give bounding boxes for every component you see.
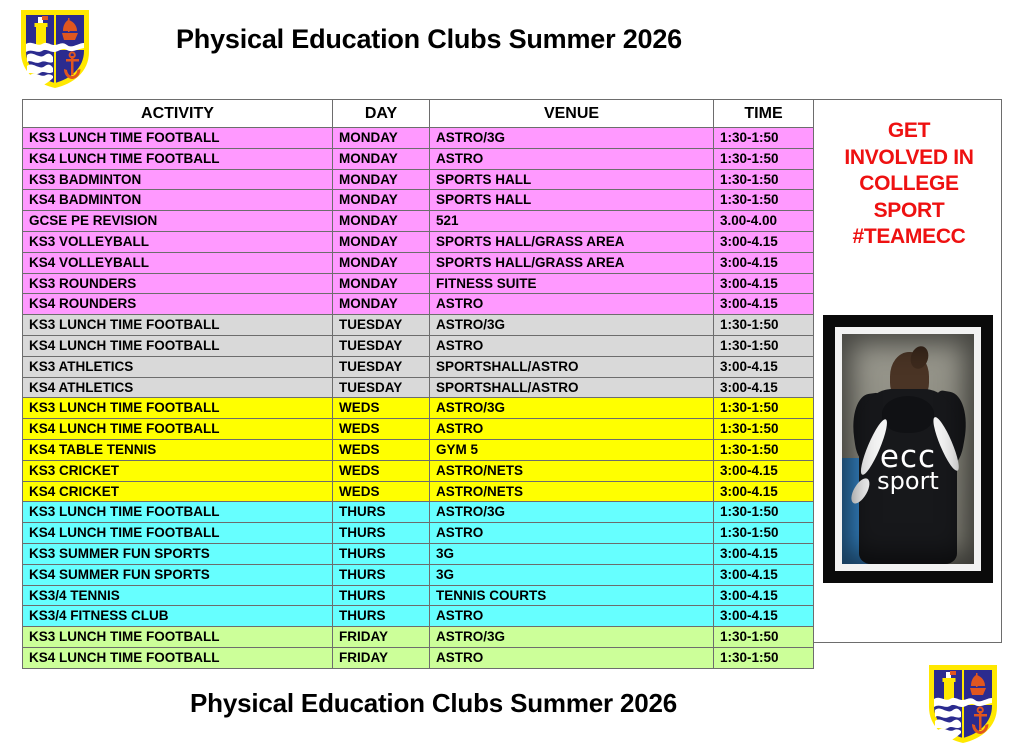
- table-row: KS4 LUNCH TIME FOOTBALLFRIDAYASTRO1:30-1…: [23, 647, 814, 668]
- cell-time: 3:00-4.15: [714, 356, 814, 377]
- cell-venue: ASTRO/NETS: [430, 481, 714, 502]
- cell-activity: KS3 LUNCH TIME FOOTBALL: [23, 128, 333, 149]
- photo-hood: [882, 396, 935, 433]
- cell-time: 1:30-1:50: [714, 439, 814, 460]
- cell-activity: KS4 ROUNDERS: [23, 294, 333, 315]
- cell-venue: ASTRO: [430, 523, 714, 544]
- cell-time: 1:30-1:50: [714, 335, 814, 356]
- cell-day: THURS: [333, 502, 430, 523]
- cell-activity: KS4 SUMMER FUN SPORTS: [23, 564, 333, 585]
- table-row: KS4 LUNCH TIME FOOTBALLTUESDAYASTRO1:30-…: [23, 335, 814, 356]
- cell-day: THURS: [333, 523, 430, 544]
- cell-venue: SPORTS HALL: [430, 190, 714, 211]
- cell-day: THURS: [333, 585, 430, 606]
- cell-venue: ASTRO: [430, 148, 714, 169]
- table-row: KS3/4 FITNESS CLUBTHURSASTRO3:00-4.15: [23, 606, 814, 627]
- cell-venue: ASTRO/3G: [430, 627, 714, 648]
- cell-time: 1:30-1:50: [714, 523, 814, 544]
- cell-venue: SPORTS HALL: [430, 169, 714, 190]
- table-row: KS4 SUMMER FUN SPORTSTHURS3G3:00-4.15: [23, 564, 814, 585]
- cell-venue: ASTRO: [430, 419, 714, 440]
- cell-time: 3:00-4.15: [714, 273, 814, 294]
- table-row: KS4 LUNCH TIME FOOTBALLTHURSASTRO1:30-1:…: [23, 523, 814, 544]
- cell-day: TUESDAY: [333, 356, 430, 377]
- cell-day: MONDAY: [333, 273, 430, 294]
- cell-time: 1:30-1:50: [714, 502, 814, 523]
- cell-day: WEDS: [333, 398, 430, 419]
- cell-day: MONDAY: [333, 128, 430, 149]
- ecc-sport-photo: ecc sport: [823, 315, 993, 583]
- cell-day: MONDAY: [333, 169, 430, 190]
- cell-activity: KS3 LUNCH TIME FOOTBALL: [23, 398, 333, 419]
- page-title-top: Physical Education Clubs Summer 2026: [176, 24, 682, 55]
- table-row: KS3 LUNCH TIME FOOTBALLTUESDAYASTRO/3G1:…: [23, 315, 814, 336]
- table-row: KS4 CRICKETWEDSASTRO/NETS3:00-4.15: [23, 481, 814, 502]
- cell-time: 3:00-4.15: [714, 294, 814, 315]
- cell-venue: ASTRO/3G: [430, 128, 714, 149]
- column-header-activity: ACTIVITY: [23, 100, 333, 128]
- cell-activity: KS3 CRICKET: [23, 460, 333, 481]
- cell-day: FRIDAY: [333, 647, 430, 668]
- cell-day: TUESDAY: [333, 335, 430, 356]
- table-row: KS3 ROUNDERSMONDAYFITNESS SUITE3:00-4.15: [23, 273, 814, 294]
- cell-activity: KS4 TABLE TENNIS: [23, 439, 333, 460]
- photo-image: ecc sport: [842, 334, 974, 564]
- cell-activity: KS4 ATHLETICS: [23, 377, 333, 398]
- cell-venue: ASTRO/3G: [430, 398, 714, 419]
- cell-activity: KS4 LUNCH TIME FOOTBALL: [23, 523, 333, 544]
- cell-time: 1:30-1:50: [714, 169, 814, 190]
- clubs-timetable: ACTIVITY DAY VENUE TIME KS3 LUNCH TIME F…: [22, 99, 814, 669]
- table-row: KS3 LUNCH TIME FOOTBALLMONDAYASTRO/3G1:3…: [23, 128, 814, 149]
- cell-activity: KS3 LUNCH TIME FOOTBALL: [23, 627, 333, 648]
- table-row: KS3 ATHLETICSTUESDAYSPORTSHALL/ASTRO3:00…: [23, 356, 814, 377]
- column-header-venue: VENUE: [430, 100, 714, 128]
- cell-time: 3:00-4.15: [714, 252, 814, 273]
- cell-venue: ASTRO/3G: [430, 315, 714, 336]
- cell-time: 1:30-1:50: [714, 398, 814, 419]
- cell-venue: SPORTS HALL/GRASS AREA: [430, 231, 714, 252]
- cell-day: THURS: [333, 543, 430, 564]
- table-row: KS4 ATHLETICSTUESDAYSPORTSHALL/ASTRO3:00…: [23, 377, 814, 398]
- photo-mat: ecc sport: [835, 327, 981, 571]
- cell-venue: ASTRO: [430, 294, 714, 315]
- promo-line-2: INVOLVED IN: [820, 145, 998, 172]
- cell-day: THURS: [333, 564, 430, 585]
- cell-venue: SPORTSHALL/ASTRO: [430, 377, 714, 398]
- table-row: KS3 SUMMER FUN SPORTSTHURS3G3:00-4.15: [23, 543, 814, 564]
- column-header-day: DAY: [333, 100, 430, 128]
- cell-time: 1:30-1:50: [714, 315, 814, 336]
- cell-time: 3.00-4.00: [714, 211, 814, 232]
- cell-venue: 521: [430, 211, 714, 232]
- cell-day: TUESDAY: [333, 377, 430, 398]
- table-row: KS4 LUNCH TIME FOOTBALLWEDSASTRO1:30-1:5…: [23, 419, 814, 440]
- cell-venue: ASTRO/NETS: [430, 460, 714, 481]
- cell-activity: GCSE PE REVISION: [23, 211, 333, 232]
- cell-day: WEDS: [333, 460, 430, 481]
- photo-hoodie-logo: ecc sport: [842, 442, 974, 493]
- cell-activity: KS3 LUNCH TIME FOOTBALL: [23, 315, 333, 336]
- cell-activity: KS4 LUNCH TIME FOOTBALL: [23, 647, 333, 668]
- cell-venue: 3G: [430, 543, 714, 564]
- table-row: KS3 BADMINTONMONDAYSPORTS HALL1:30-1:50: [23, 169, 814, 190]
- cell-activity: KS4 LUNCH TIME FOOTBALL: [23, 419, 333, 440]
- table-header-row: ACTIVITY DAY VENUE TIME: [23, 100, 814, 128]
- cell-day: MONDAY: [333, 211, 430, 232]
- cell-time: 3:00-4.15: [714, 231, 814, 252]
- school-crest-top: [17, 6, 93, 90]
- cell-time: 1:30-1:50: [714, 148, 814, 169]
- cell-venue: SPORTS HALL/GRASS AREA: [430, 252, 714, 273]
- table-row: KS3 CRICKETWEDSASTRO/NETS3:00-4.15: [23, 460, 814, 481]
- page-title-bottom: Physical Education Clubs Summer 2026: [190, 688, 677, 719]
- cell-day: WEDS: [333, 439, 430, 460]
- cell-day: TUESDAY: [333, 315, 430, 336]
- cell-day: MONDAY: [333, 148, 430, 169]
- cell-venue: TENNIS COURTS: [430, 585, 714, 606]
- cell-time: 1:30-1:50: [714, 647, 814, 668]
- cell-activity: KS4 LUNCH TIME FOOTBALL: [23, 148, 333, 169]
- table-row: KS3 VOLLEYBALLMONDAYSPORTS HALL/GRASS AR…: [23, 231, 814, 252]
- cell-day: MONDAY: [333, 190, 430, 211]
- cell-time: 3:00-4.15: [714, 460, 814, 481]
- table-row: KS4 ROUNDERSMONDAYASTRO3:00-4.15: [23, 294, 814, 315]
- table-row: KS3/4 TENNISTHURSTENNIS COURTS3:00-4.15: [23, 585, 814, 606]
- cell-activity: KS3 LUNCH TIME FOOTBALL: [23, 502, 333, 523]
- cell-day: MONDAY: [333, 294, 430, 315]
- cell-activity: KS4 CRICKET: [23, 481, 333, 502]
- table-row: KS3 LUNCH TIME FOOTBALLFRIDAYASTRO/3G1:3…: [23, 627, 814, 648]
- cell-time: 3:00-4.15: [714, 606, 814, 627]
- cell-time: 1:30-1:50: [714, 627, 814, 648]
- cell-time: 1:30-1:50: [714, 128, 814, 149]
- cell-venue: ASTRO: [430, 335, 714, 356]
- cell-venue: ASTRO/3G: [430, 502, 714, 523]
- cell-day: THURS: [333, 606, 430, 627]
- table-row: KS4 LUNCH TIME FOOTBALLMONDAYASTRO1:30-1…: [23, 148, 814, 169]
- hoodie-logo-line2: sport: [842, 469, 974, 493]
- cell-activity: KS3 SUMMER FUN SPORTS: [23, 543, 333, 564]
- cell-activity: KS3 ROUNDERS: [23, 273, 333, 294]
- cell-venue: ASTRO: [430, 606, 714, 627]
- cell-time: 3:00-4.15: [714, 585, 814, 606]
- cell-time: 3:00-4.15: [714, 564, 814, 585]
- promo-line-5: #TEAMECC: [820, 224, 998, 251]
- cell-activity: KS4 LUNCH TIME FOOTBALL: [23, 335, 333, 356]
- cell-day: WEDS: [333, 419, 430, 440]
- cell-time: 1:30-1:50: [714, 419, 814, 440]
- cell-activity: KS3/4 FITNESS CLUB: [23, 606, 333, 627]
- cell-venue: FITNESS SUITE: [430, 273, 714, 294]
- promo-line-4: SPORT: [820, 198, 998, 225]
- cell-time: 1:30-1:50: [714, 190, 814, 211]
- cell-day: WEDS: [333, 481, 430, 502]
- cell-day: FRIDAY: [333, 627, 430, 648]
- promo-line-3: COLLEGE: [820, 171, 998, 198]
- table-row: KS4 VOLLEYBALLMONDAYSPORTS HALL/GRASS AR…: [23, 252, 814, 273]
- table-row: KS4 BADMINTONMONDAYSPORTS HALL1:30-1:50: [23, 190, 814, 211]
- cell-venue: 3G: [430, 564, 714, 585]
- cell-day: MONDAY: [333, 252, 430, 273]
- cell-activity: KS3 BADMINTON: [23, 169, 333, 190]
- cell-activity: KS3 ATHLETICS: [23, 356, 333, 377]
- cell-activity: KS3/4 TENNIS: [23, 585, 333, 606]
- cell-time: 3:00-4.15: [714, 481, 814, 502]
- school-crest-bottom: [925, 661, 1001, 745]
- cell-activity: KS4 VOLLEYBALL: [23, 252, 333, 273]
- cell-time: 3:00-4.15: [714, 377, 814, 398]
- table-row: KS3 LUNCH TIME FOOTBALLTHURSASTRO/3G1:30…: [23, 502, 814, 523]
- cell-activity: KS3 VOLLEYBALL: [23, 231, 333, 252]
- table-row: KS4 TABLE TENNISWEDSGYM 51:30-1:50: [23, 439, 814, 460]
- table-row: KS3 LUNCH TIME FOOTBALLWEDSASTRO/3G1:30-…: [23, 398, 814, 419]
- cell-venue: GYM 5: [430, 439, 714, 460]
- table-row: GCSE PE REVISIONMONDAY5213.00-4.00: [23, 211, 814, 232]
- cell-venue: ASTRO: [430, 647, 714, 668]
- cell-day: MONDAY: [333, 231, 430, 252]
- promo-message: GET INVOLVED IN COLLEGE SPORT #TEAMECC: [820, 118, 998, 251]
- cell-activity: KS4 BADMINTON: [23, 190, 333, 211]
- cell-venue: SPORTSHALL/ASTRO: [430, 356, 714, 377]
- cell-time: 3:00-4.15: [714, 543, 814, 564]
- column-header-time: TIME: [714, 100, 814, 128]
- promo-line-1: GET: [820, 118, 998, 145]
